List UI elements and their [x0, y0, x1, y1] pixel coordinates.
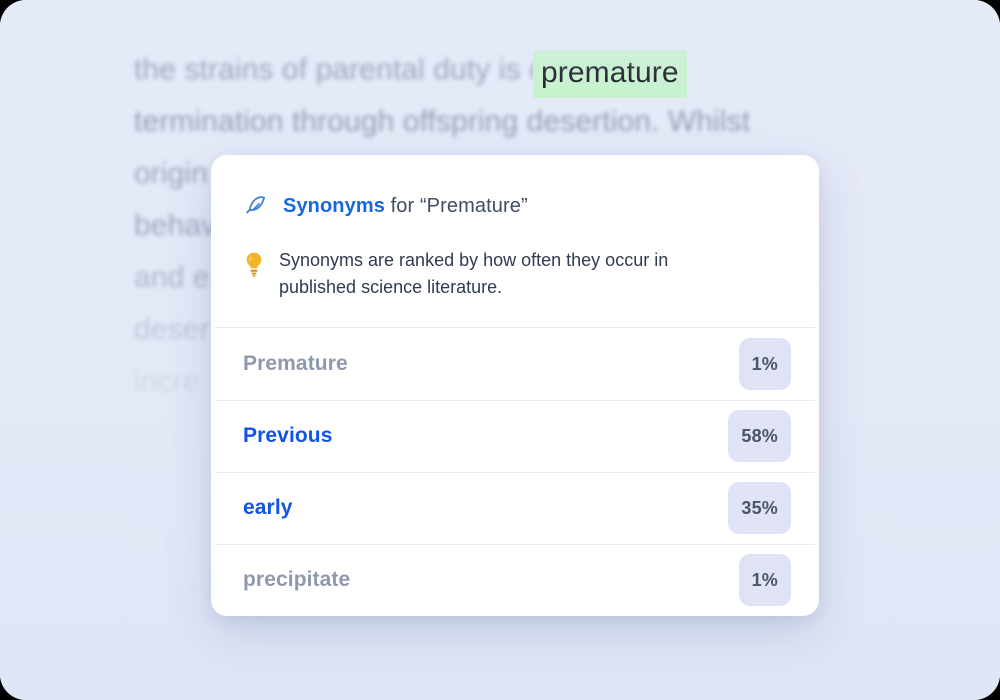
synonym-frequency-badge: 1%	[739, 338, 791, 390]
synonym-frequency-badge: 58%	[728, 410, 791, 462]
synonyms-popover: Synonyms for “Premature” Synonyms are ra…	[211, 155, 819, 616]
popover-header: Synonyms for “Premature”	[211, 155, 819, 219]
synonym-label: precipitate	[243, 568, 350, 592]
synonym-row-premature[interactable]: Premature 1%	[211, 328, 819, 400]
popover-title: Synonyms for “Premature”	[283, 195, 528, 218]
synonym-label: Premature	[243, 352, 348, 376]
tip-text: Synonyms are ranked by how often they oc…	[279, 247, 731, 301]
synonym-list: Premature 1% Previous 58% early 35% prec…	[211, 328, 819, 616]
synonym-row-early[interactable]: early 35%	[211, 472, 819, 544]
synonym-label: early	[243, 496, 293, 520]
popover-title-keyword: Synonyms	[283, 195, 385, 217]
synonym-row-precipitate[interactable]: precipitate 1%	[211, 544, 819, 616]
lightbulb-icon	[243, 247, 265, 279]
document-line: termination through offspring desertion.…	[134, 96, 880, 148]
synonym-row-previous[interactable]: Previous 58%	[211, 400, 819, 472]
synonym-frequency-badge: 1%	[739, 554, 791, 606]
feather-icon	[243, 193, 269, 219]
popover-title-rest: for “Premature”	[391, 195, 528, 217]
document-line: the strains of parental duty is care	[134, 44, 880, 96]
synonym-label: Previous	[243, 424, 333, 448]
header-row: Synonyms for “Premature”	[243, 193, 787, 219]
tip-row: Synonyms are ranked by how often they oc…	[211, 219, 819, 327]
synonym-frequency-badge: 35%	[728, 482, 791, 534]
app-screen: the strains of parental duty is care ter…	[0, 0, 1000, 700]
highlighted-word[interactable]: premature	[533, 50, 687, 98]
